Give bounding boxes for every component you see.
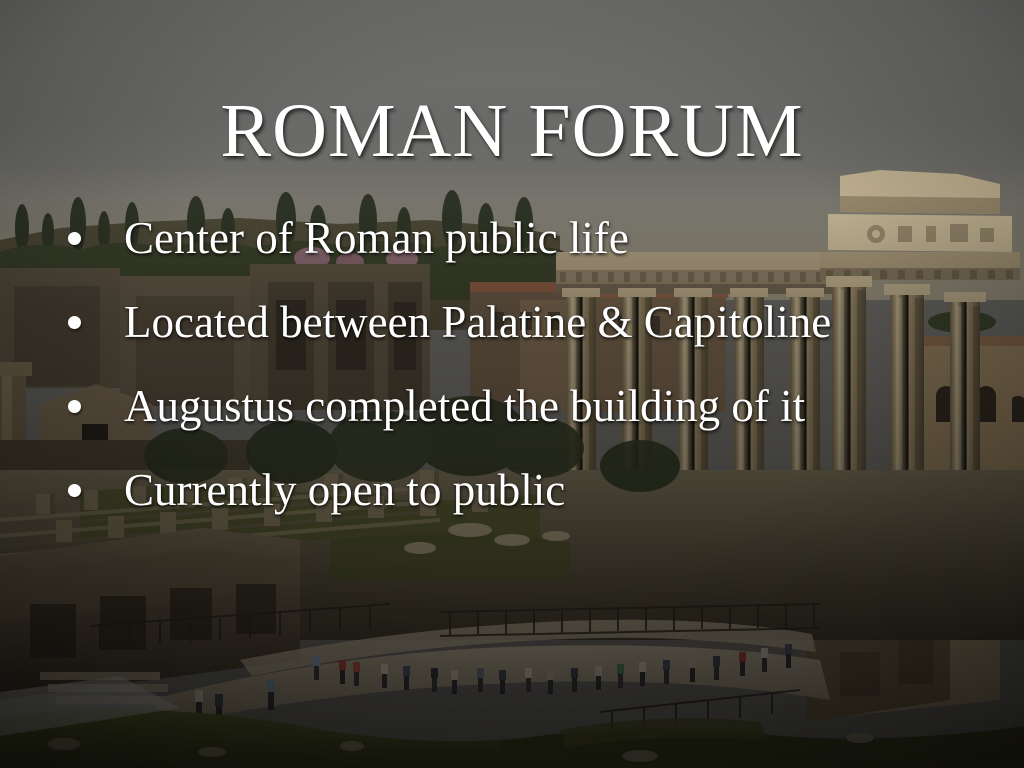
bullet-item-label: Currently open to public <box>124 468 565 513</box>
list-item: Located between Palatine & Capitoline <box>56 280 1006 364</box>
list-item: Center of Roman public life <box>56 196 1006 280</box>
list-item: Augustus completed the building of it <box>56 364 1006 448</box>
page-title: ROMAN FORUM <box>0 93 1024 169</box>
bullet-item-label: Center of Roman public life <box>124 216 629 261</box>
slide-content: ROMAN FORUM Center of Roman public life … <box>0 0 1024 768</box>
list-item: Currently open to public <box>56 448 1006 532</box>
presentation-slide: ROMAN FORUM Center of Roman public life … <box>0 0 1024 768</box>
bullet-marker-icon <box>68 316 81 329</box>
bullet-item-label: Located between Palatine & Capitoline <box>124 300 831 345</box>
bullet-list: Center of Roman public life Located betw… <box>56 196 1006 532</box>
bullet-marker-icon <box>68 400 81 413</box>
bullet-marker-icon <box>68 484 81 497</box>
bullet-marker-icon <box>68 232 81 245</box>
bullet-item-label: Augustus completed the building of it <box>124 384 805 429</box>
